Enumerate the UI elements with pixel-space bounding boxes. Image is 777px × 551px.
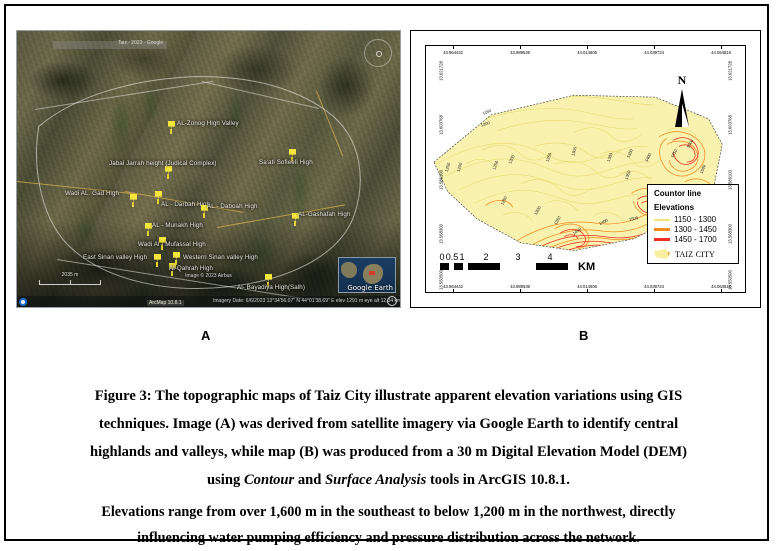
legend-color-swatch (654, 238, 670, 241)
status-bar-text: Imagery Date: 6/6/2023 13°34'56.07" N 44… (213, 298, 401, 304)
scale-bar-graphic (440, 263, 590, 270)
scale-tick-label: 0.5 (446, 252, 459, 262)
image-credit: Image © 2023 Airbus (185, 273, 232, 279)
x-axis-tick (654, 46, 655, 49)
panel-a-letter: A (201, 328, 210, 343)
map-pin-label: Western Sinan valley High (183, 254, 258, 261)
x-axis-tick-label: 43.989536 (510, 50, 530, 55)
x-axis-tick (453, 46, 454, 49)
map-pin-label: Al-Qahrah High (169, 265, 213, 272)
y-axis-tick-label: 13.621728 (438, 61, 443, 81)
y-axis-tick-label: 13.550500 (438, 270, 443, 290)
legend-color-swatch (654, 228, 670, 231)
caption-line-2: techniques. Image (A) was derived from s… (14, 410, 763, 438)
x-axis-tick-label: 43.964442 (443, 50, 463, 55)
google-icon[interactable] (19, 298, 27, 306)
y-axis-tick-label: 13.586100 (438, 170, 443, 190)
panel-b-letter: B (579, 328, 588, 343)
scale-bar-contour: 00.51234 (440, 252, 590, 270)
city-polygon-swatch (654, 249, 670, 259)
panel-b-contour-map[interactable]: 1150 1200 1250 1200 1250 1300 1250 1300 … (410, 30, 761, 308)
overview-inset-map[interactable]: Google Earth (338, 257, 396, 293)
map-pin-marker[interactable] (165, 166, 172, 178)
x-axis-tick (721, 289, 722, 292)
map-pin-label: Wadi AL. Gad High (65, 190, 119, 197)
caption-sub-line-1: Elevations range from over 1,600 m in th… (14, 499, 763, 525)
caption-line-4-pre: using (207, 472, 244, 488)
x-axis-tick (520, 46, 521, 49)
legend-color-swatch (654, 219, 670, 221)
map-pin-label: Al- Bayadiya High(Salh) (237, 284, 305, 291)
x-axis-tick (587, 46, 588, 49)
x-axis-tick (520, 289, 521, 292)
caption-tool-surface-analysis: Surface Analysis (325, 472, 426, 488)
legend-range-label: 1450 - 1700 (674, 235, 717, 244)
x-axis-tick (453, 289, 454, 292)
legend-row: 1300 - 1450 (654, 225, 733, 234)
scale-tick-label: 1 (459, 252, 464, 262)
caption-tool-contour: Contour (244, 472, 294, 488)
y-axis-tick-label: 13.550500 (728, 270, 733, 290)
caption-line-3: highlands and valleys, while map (B) was… (14, 438, 763, 466)
map-neatline: 1150 1200 1250 1200 1250 1300 1250 1300 … (425, 45, 746, 293)
north-label: N (671, 74, 693, 86)
map-pin-label: AL - Munakh High (152, 222, 203, 229)
google-earth-logo: Google Earth (347, 284, 393, 292)
map-pin-label: Wadi Al - Mufassal High (138, 241, 206, 248)
map-pin-marker[interactable] (168, 121, 175, 133)
map-pin-label: AL-Gashafah High (298, 211, 351, 218)
panels-row: Taiz - 2023 - Google AL-Zonog High Valle… (6, 6, 767, 350)
legend-range-label: 1300 - 1450 (674, 225, 717, 234)
map-pin-label: AL - Daboah High (207, 203, 258, 210)
legend-subtitle: Elevations (654, 203, 733, 212)
y-axis-tick-label: 13.603768 (728, 115, 733, 135)
map-pin-label: Jabal Jarrah height (Judical Complex) (109, 160, 217, 167)
map-pin-marker[interactable] (154, 254, 161, 266)
caption-line-4: using Contour and Surface Analysis tools… (14, 466, 763, 494)
x-axis-tick (587, 289, 588, 292)
caption-line-4-mid: and (294, 472, 325, 488)
north-arrow-glyph (675, 89, 689, 127)
svg-text:1150: 1150 (482, 108, 493, 116)
caption-line-1: Figure 3: The topographic maps of Taiz C… (14, 382, 763, 410)
y-axis-tick-label: 13.568300 (438, 224, 443, 244)
legend-row: 1450 - 1700 (654, 235, 733, 244)
legend-city-label: TAIZ CITY (675, 250, 715, 259)
y-axis-tick-label: 13.621728 (728, 61, 733, 81)
scale-bar-ticks: 00.51234 (440, 252, 590, 263)
scale-tick-label: 2 (483, 252, 488, 262)
legend-range-label: 1150 - 1300 (674, 215, 716, 224)
map-pin-marker[interactable] (130, 194, 137, 206)
y-axis-tick-label: 13.586100 (728, 170, 733, 190)
panel-a-satellite-map[interactable]: Taiz - 2023 - Google AL-Zonog High Valle… (16, 30, 401, 308)
x-axis-tick (654, 289, 655, 292)
x-axis-tick-label: 44.064818 (711, 50, 731, 55)
compass-icon[interactable] (364, 39, 392, 67)
north-arrow: N (671, 74, 693, 130)
contour-plot-area: 1150 1200 1250 1200 1250 1300 1250 1300 … (426, 46, 745, 292)
status-bar: ArcMap 10.8.1 Imagery Date: 6/6/2023 13°… (17, 296, 400, 307)
image-top-banner-label: Taiz - 2023 - Google (118, 40, 163, 46)
map-pin-label: AL-Zonog High Valley (177, 120, 239, 127)
legend-items: 1150 - 13001300 - 14501450 - 1700 (654, 215, 733, 244)
legend-row: 1150 - 1300 (654, 215, 733, 224)
map-pin-marker[interactable] (145, 223, 152, 235)
scale-bar-satellite: 2035 m (39, 280, 101, 285)
y-axis-tick-label: 13.568300 (728, 224, 733, 244)
x-axis-tick (721, 46, 722, 49)
overview-extent-box (369, 271, 375, 275)
map-pin-label: East Sinan valley High (83, 254, 147, 261)
eye-altitude-icon (387, 296, 397, 306)
legend-city-item: TAIZ CITY (654, 249, 733, 259)
y-axis-tick-label: 13.603768 (438, 115, 443, 135)
arcmap-version-tag: ArcMap 10.8.1 (147, 300, 184, 306)
map-pin-label: Sa'ati Sofieeli High (259, 159, 313, 166)
caption-line-4-post: tools in ArcGIS 10.8.1. (426, 472, 570, 488)
scale-tick-label: 0 (439, 252, 444, 262)
image-top-banner: Taiz - 2023 - Google (53, 41, 167, 49)
x-axis-tick-label: 44.039724 (644, 50, 664, 55)
scale-bar-unit: KM (578, 261, 595, 273)
scale-tick-label: 3 (515, 252, 520, 262)
figure-caption: Figure 3: The topographic maps of Taiz C… (14, 382, 763, 551)
caption-sub-line-2: influencing water pumping efficiency and… (14, 525, 763, 551)
scale-tick-label: 4 (547, 252, 552, 262)
map-legend: Countor line Elevations 1150 - 13001300 … (647, 184, 739, 264)
overview-landmass (341, 262, 357, 278)
figure-frame: Taiz - 2023 - Google AL-Zonog High Valle… (4, 4, 769, 541)
scale-bar-label: 2035 m (62, 272, 79, 278)
x-axis-tick-label: 44.014606 (577, 50, 597, 55)
legend-title: Countor line (654, 189, 733, 198)
